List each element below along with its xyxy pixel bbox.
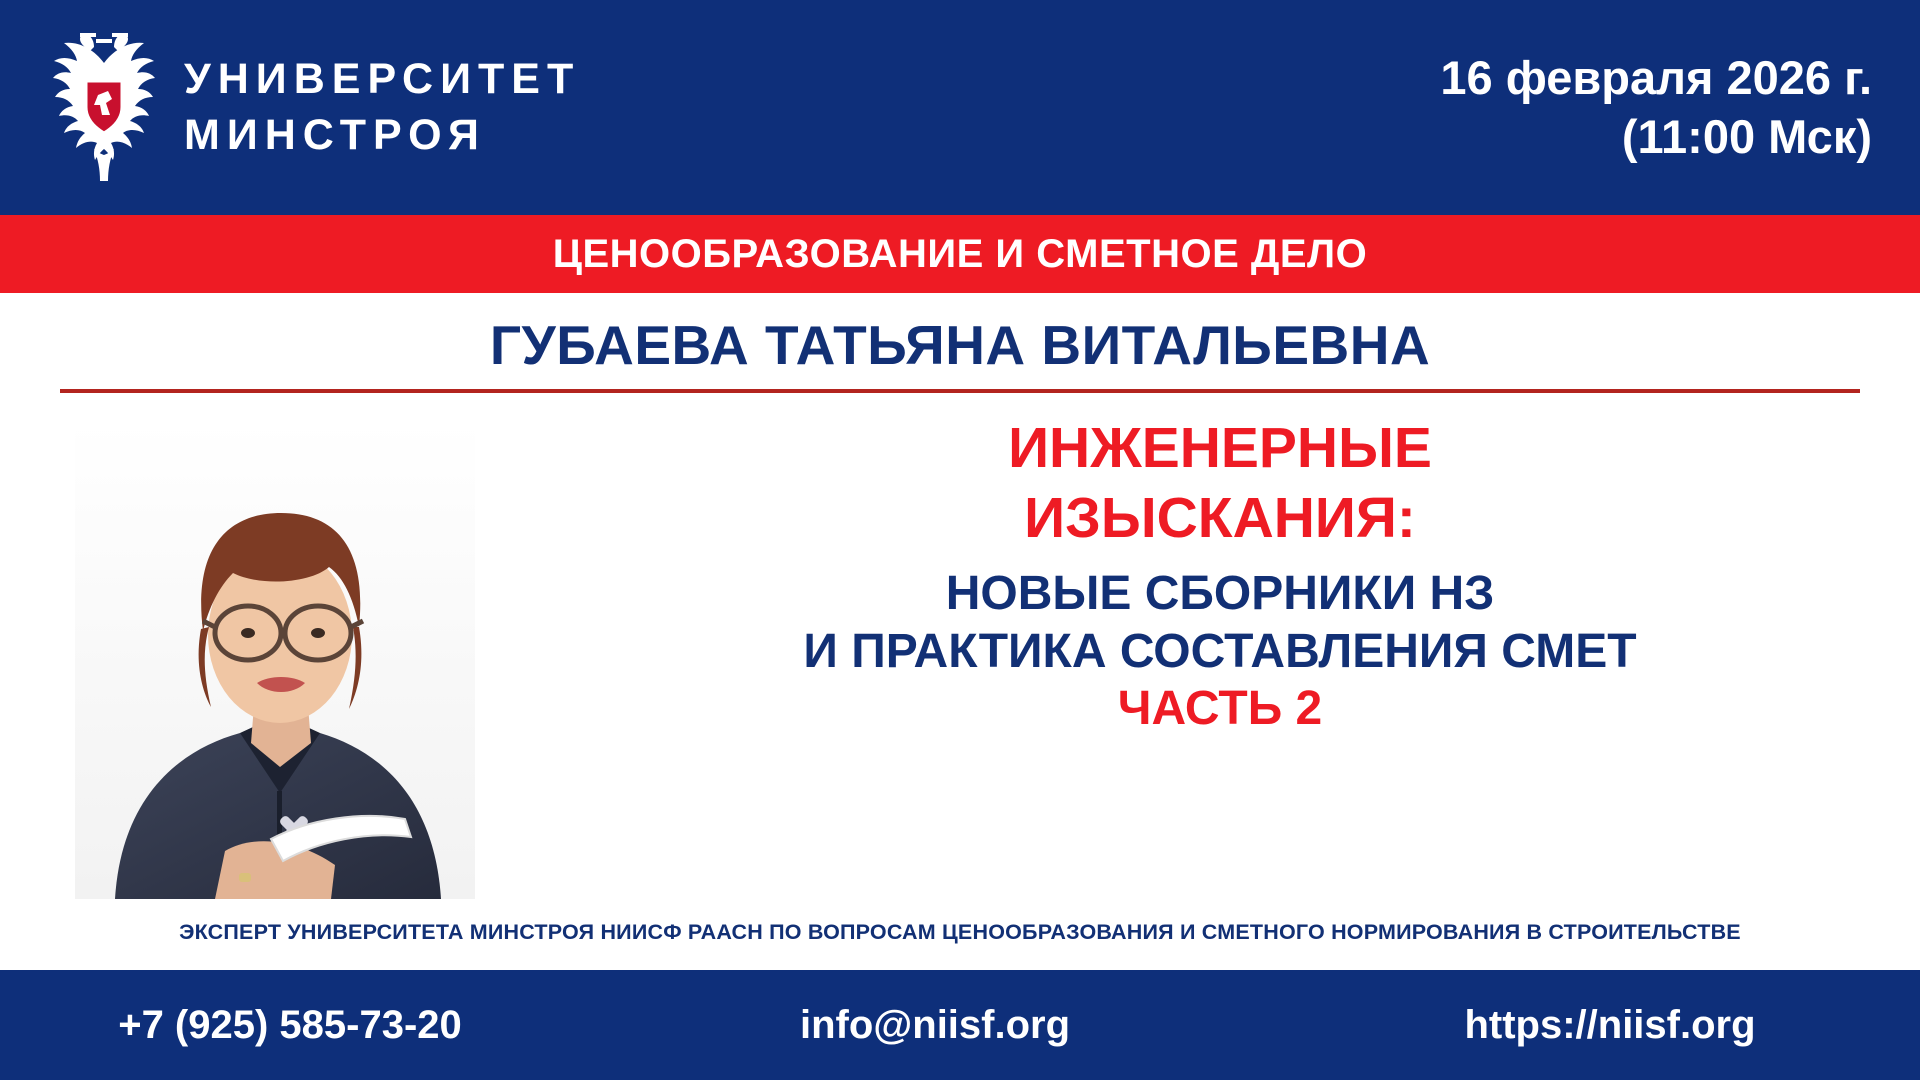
- category-bar: ЦЕНООБРАЗОВАНИЕ И СМЕТНОЕ ДЕЛО: [0, 215, 1920, 293]
- poster-body: ИНЖЕНЕРНЫЕ ИЗЫСКАНИЯ: НОВЫЕ СБОРНИКИ НЗ …: [0, 393, 1920, 953]
- topic-title-line1: ИНЖЕНЕРНЫЕ: [560, 413, 1880, 483]
- topic-block: ИНЖЕНЕРНЫЕ ИЗЫСКАНИЯ: НОВЫЕ СБОРНИКИ НЗ …: [560, 413, 1880, 738]
- speaker-name: ГУБАЕВА ТАТЬЯНА ВИТАЛЬЕВНА: [0, 293, 1920, 389]
- event-date: 16 февраля 2026 г.: [1440, 49, 1872, 108]
- event-date-block: 16 февраля 2026 г. (11:00 Мск): [1440, 49, 1880, 167]
- organization-name: УНИВЕРСИТЕТ МИНСТРОЯ: [184, 52, 580, 162]
- webinar-announcement-poster: УНИВЕРСИТЕТ МИНСТРОЯ 16 февраля 2026 г. …: [0, 0, 1920, 1080]
- category-label: ЦЕНООБРАЗОВАНИЕ И СМЕТНОЕ ДЕЛО: [553, 232, 1367, 277]
- contact-email[interactable]: info@niisf.org: [570, 1003, 1300, 1048]
- topic-spacer: [560, 553, 1880, 565]
- organization-name-line2: МИНСТРОЯ: [184, 108, 580, 163]
- topic-subtitle-line1: НОВЫЕ СБОРНИКИ НЗ: [560, 565, 1880, 623]
- double-headed-eagle-emblem-icon: [50, 33, 158, 183]
- speaker-photo: [75, 421, 475, 899]
- organization-name-line1: УНИВЕРСИТЕТ: [184, 52, 580, 107]
- event-time: (11:00 Мск): [1440, 108, 1872, 167]
- topic-subtitle-line2: И ПРАКТИКА СОСТАВЛЕНИЯ СМЕТ: [560, 623, 1880, 681]
- topic-part-label: ЧАСТЬ 2: [560, 680, 1880, 738]
- topic-title-line2: ИЗЫСКАНИЯ:: [560, 483, 1880, 553]
- poster-header: УНИВЕРСИТЕТ МИНСТРОЯ 16 февраля 2026 г. …: [0, 0, 1920, 215]
- brand-block: УНИВЕРСИТЕТ МИНСТРОЯ: [50, 33, 580, 183]
- speaker-credentials: ЭКСПЕРТ УНИВЕРСИТЕТА МИНСТРОЯ НИИСФ РААС…: [0, 920, 1920, 945]
- poster-footer: +7 (925) 585-73-20 info@niisf.org https:…: [0, 970, 1920, 1080]
- contact-phone[interactable]: +7 (925) 585-73-20: [0, 1003, 570, 1048]
- contact-website[interactable]: https://niisf.org: [1300, 1003, 1920, 1048]
